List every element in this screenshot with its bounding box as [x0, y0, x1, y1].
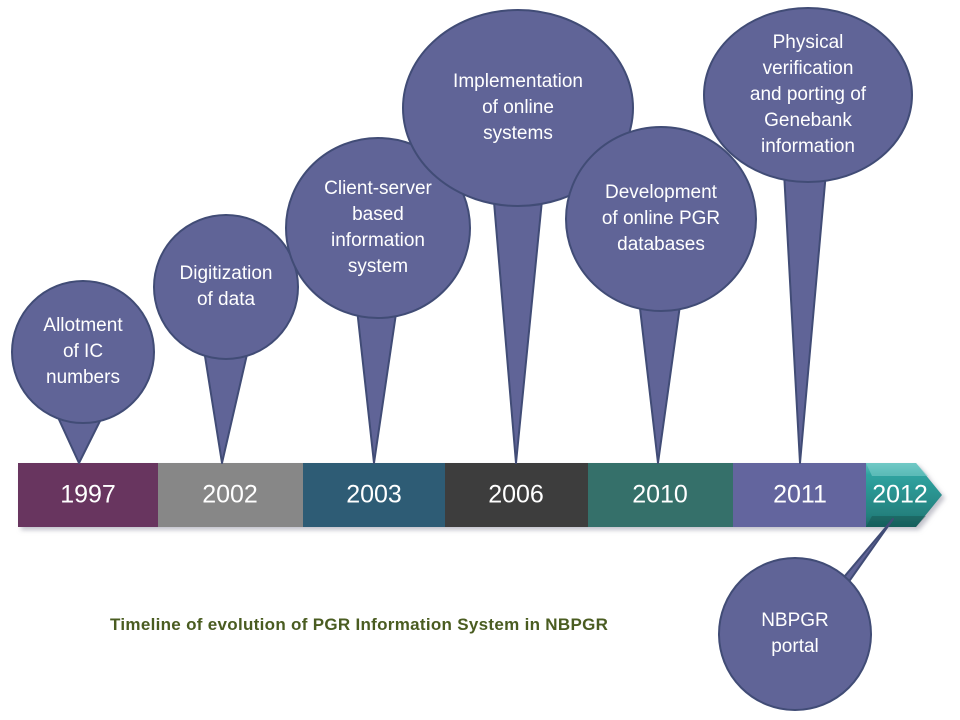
year-label-2011: 2011 [773, 481, 827, 509]
milestone-bubble-digitization[interactable]: Digitizationof data [154, 215, 298, 359]
timeline-canvas: Allotmentof ICnumbersDigitizationof data… [0, 0, 960, 720]
milestone-bubble-physical-verification[interactable]: Physicalverificationand porting ofGeneba… [704, 8, 912, 182]
year-label-1997: 1997 [60, 481, 116, 509]
bubble-label-development: Developmentof online PGRdatabases [602, 182, 720, 255]
bubble-tail-development [638, 291, 682, 463]
year-label-2012: 2012 [872, 481, 928, 509]
year-label-2003: 2003 [346, 481, 402, 509]
milestone-bubble-allotment[interactable]: Allotmentof ICnumbers [12, 281, 154, 423]
bubble-tail-client-server [356, 300, 398, 463]
milestone-bubbles: Allotmentof ICnumbersDigitizationof data… [12, 8, 912, 423]
arrow-bevel-highlight [866, 463, 928, 476]
milestone-bubble-development[interactable]: Developmentof online PGRdatabases [566, 127, 756, 311]
year-label-2002: 2002 [202, 481, 258, 509]
milestone-bubble-nbpgr-portal[interactable] [719, 558, 871, 710]
year-label-2010: 2010 [632, 481, 688, 509]
bubble-shape [154, 215, 298, 359]
nbpgr-portal-callout: NBPGRportal [719, 519, 893, 710]
bubble-tail-physical-verification [784, 172, 826, 463]
bubble-tail-digitization [204, 350, 248, 463]
arrow-bevel-shadow [866, 516, 926, 527]
diagram-caption: Timeline of evolution of PGR Information… [110, 615, 608, 634]
timeline-diagram: Allotmentof ICnumbersDigitizationof data… [0, 0, 960, 720]
year-label-2006: 2006 [488, 481, 544, 509]
bubble-tail-implementation [493, 190, 543, 463]
